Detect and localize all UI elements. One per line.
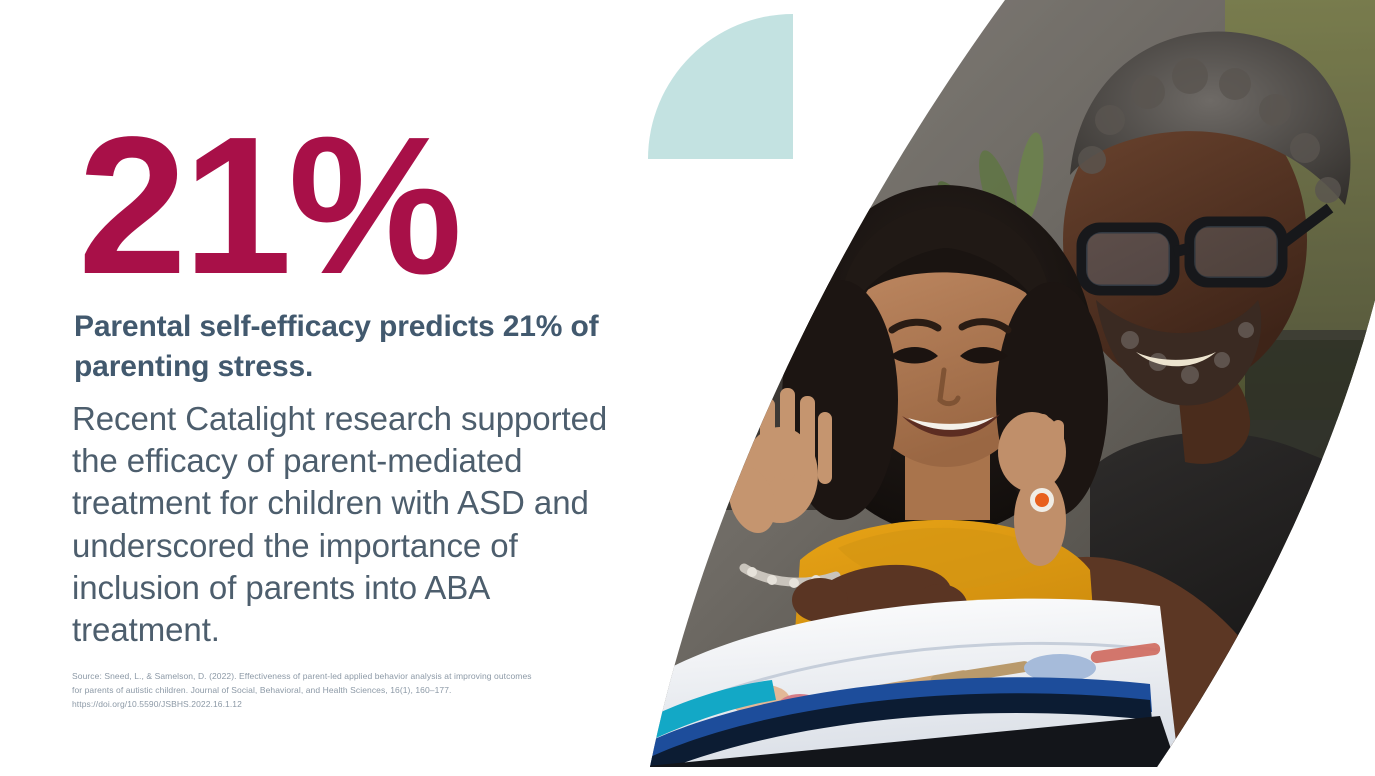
source-citation: Source: Sneed, L., & Samelson, D. (2022)… — [72, 670, 542, 711]
headline: Parental self-efficacy predicts 21% of p… — [74, 307, 614, 387]
teal-quarter-circle-decoration — [648, 14, 793, 159]
slide-canvas: 21% Parental self-efficacy predicts 21% … — [0, 0, 1375, 776]
body-paragraph: Recent Catalight research supported the … — [72, 398, 632, 651]
stat-number: 21% — [78, 108, 459, 304]
text-column: 21% Parental self-efficacy predicts 21% … — [0, 0, 640, 776]
